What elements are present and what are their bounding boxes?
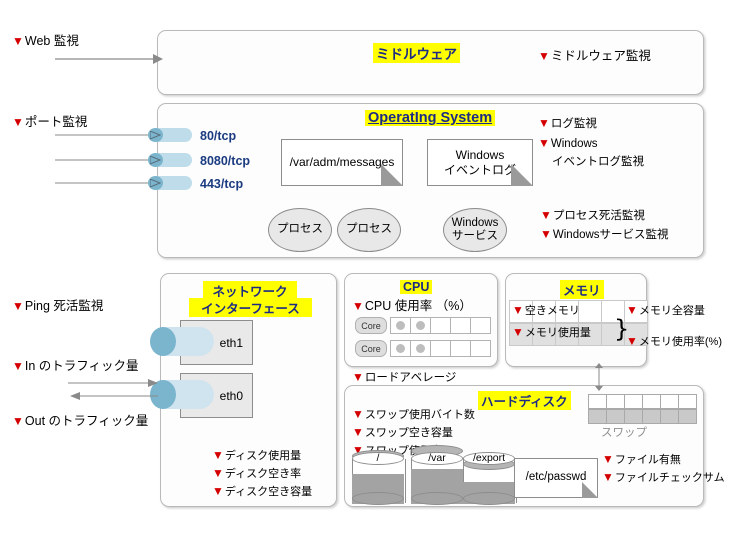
disk-bottom [352, 492, 404, 505]
port-arrow-8080 [150, 156, 163, 165]
marker-icon: ▼ [12, 299, 24, 313]
memory-heading: メモリ [560, 280, 604, 299]
process-alive-monitor-label: ▼プロセス死活監視 [540, 208, 645, 223]
swap-free-capacity-label: ▼スワップ空き容量 [352, 425, 453, 441]
marker-icon: ▼ [212, 466, 224, 480]
disk-free-rate-monitor-label: ▼ディスク空き率 [212, 466, 301, 482]
marker-icon: ▼ [602, 452, 614, 466]
swap-cell [660, 409, 679, 424]
cpu-core-cells-2 [390, 340, 491, 357]
log-document-messages: /var/adm/messages [281, 139, 403, 186]
file-exists-monitor-label: ▼ファイル有無 [602, 452, 681, 468]
free-memory-label: ▼空きメモリ [512, 303, 580, 319]
swap-grid [588, 394, 697, 424]
marker-icon: ▼ [12, 359, 24, 373]
swap-cell [678, 394, 697, 409]
network-heading-line2: インターフェース [189, 298, 312, 317]
disk-cylinder-var: /var [411, 452, 463, 504]
cpu-heading: CPU [400, 280, 432, 294]
marker-icon: ▼ [626, 334, 638, 348]
file-document-passwd: /etc/passwd [514, 458, 598, 498]
cpu-usage-monitor-label: ▼CPU 使用率 （%） [352, 299, 472, 315]
swap-cell [606, 394, 625, 409]
process-label: プロセス [346, 223, 392, 236]
swap-cell [642, 409, 661, 424]
marker-icon: ▼ [538, 116, 550, 130]
swap-cell [642, 394, 661, 409]
marker-icon: ▼ [538, 136, 550, 150]
marker-icon: ▼ [212, 448, 224, 462]
swap-cell [588, 409, 607, 424]
marker-icon: ▼ [602, 470, 614, 484]
memory-disk-swap-arrow [592, 363, 606, 391]
marker-icon: ▼ [540, 208, 552, 222]
file-checksum-monitor-label: ▼ファイルチェックサム [602, 470, 725, 486]
core-cell [450, 317, 471, 334]
swap-used-bytes-label: ▼スワップ使用バイト数 [352, 407, 475, 423]
disk-free-capacity-monitor-label: ▼ディスク空き容量 [212, 484, 312, 500]
disk-label: /var [411, 452, 463, 465]
windows-event-log-monitor-label: ▼Windows [538, 136, 598, 151]
process-label: プロセス [277, 223, 323, 236]
process-oval-2: プロセス [337, 208, 401, 252]
port-label-80: 80/tcp [200, 129, 236, 143]
cpu-core-pill-1: Core [355, 317, 387, 334]
disk-bottom [411, 492, 463, 505]
out-traffic-label: ▼Out のトラフィック量 [12, 414, 148, 430]
middleware-heading: ミドルウェア [373, 43, 460, 63]
swap-cell [660, 394, 679, 409]
marker-icon: ▼ [12, 414, 24, 428]
windows-service-oval: Windows サービス [443, 208, 507, 252]
disk-label: / [352, 452, 404, 465]
core-cell [470, 340, 491, 357]
core-cell [470, 317, 491, 334]
disk-cylinder-export: /export [463, 452, 515, 504]
disk-cylinder-root: / [352, 452, 404, 504]
memory-total-monitor-label: ▼メモリ全容量 [626, 303, 705, 319]
memory-usage-rate-monitor-label: ▼メモリ使用率(%) [626, 334, 722, 350]
page-fold-icon [582, 482, 598, 498]
core-cell [410, 317, 431, 334]
marker-icon: ▼ [512, 325, 524, 339]
log-document-winevent: Windows イベントログ [427, 139, 533, 186]
port-label-8080: 8080/tcp [200, 154, 250, 168]
nic-connector-cap-eth1 [150, 327, 176, 356]
nic-label: eth0 [220, 389, 243, 403]
marker-icon: ▼ [212, 484, 224, 498]
marker-icon: ▼ [352, 299, 364, 313]
marker-icon: ▼ [352, 425, 364, 439]
port-arrow-443 [150, 179, 163, 188]
nic-label: eth1 [220, 336, 243, 350]
swap-cell [624, 394, 643, 409]
marker-icon: ▼ [352, 370, 364, 384]
cpu-core-cells-1 [390, 317, 491, 334]
swap-cell [588, 394, 607, 409]
disk-usage-monitor-label: ▼ディスク使用量 [212, 448, 301, 464]
log-document-label: Windows イベントログ [444, 148, 516, 177]
traffic-arrows [68, 378, 160, 402]
memory-cell [578, 300, 602, 323]
core-cell [390, 340, 411, 357]
page-fold-icon [381, 164, 403, 186]
windows-service-monitor-label: ▼Windowsサービス監視 [540, 227, 669, 242]
marker-icon: ▼ [512, 303, 524, 317]
process-oval-1: プロセス [268, 208, 332, 252]
cpu-core-pill-2: Core [355, 340, 387, 357]
disk-label: /export [463, 452, 515, 465]
swap-cell [606, 409, 625, 424]
disk-bottom [463, 492, 515, 505]
core-cell [430, 317, 451, 334]
ping-monitor-label: ▼Ping 死活監視 [12, 299, 103, 315]
marker-icon: ▼ [540, 227, 552, 241]
core-cell [390, 317, 411, 334]
in-traffic-label: ▼In のトラフィック量 [12, 359, 139, 375]
marker-icon: ▼ [538, 49, 550, 63]
windows-event-log-monitor-label-2: イベントログ監視 [552, 155, 644, 169]
log-document-label: /var/adm/messages [290, 155, 395, 169]
page-fold-icon [511, 164, 533, 186]
port-label-443: 443/tcp [200, 177, 243, 191]
marker-icon: ▼ [12, 115, 24, 129]
marker-icon: ▼ [12, 34, 24, 48]
load-average-label: ▼ロードアベレージ [352, 370, 456, 385]
windows-service-label: Windows サービス [452, 217, 499, 243]
os-heading: OperatIng System [365, 110, 495, 126]
core-cell [430, 340, 451, 357]
swap-label: スワップ [601, 424, 647, 440]
port-arrow-80 [150, 131, 163, 140]
harddisk-heading: ハードディスク [478, 391, 571, 410]
web-monitor-label: ▼Web 監視 [12, 34, 79, 50]
swap-cell [624, 409, 643, 424]
swap-grid-row-used [588, 409, 697, 424]
core-cell [450, 340, 471, 357]
file-document-label: /etc/passwd [526, 471, 587, 485]
marker-icon: ▼ [626, 303, 638, 317]
marker-icon: ▼ [352, 407, 364, 421]
web-monitor-arrow [55, 50, 165, 66]
middleware-monitor-label: ▼ミドルウェア監視 [538, 49, 651, 65]
swap-cell [678, 409, 697, 424]
core-cell [410, 340, 431, 357]
swap-grid-row-free [588, 394, 697, 409]
used-memory-label: ▼メモリ使用量 [512, 325, 591, 341]
log-monitor-label: ▼ログ監視 [538, 116, 597, 131]
